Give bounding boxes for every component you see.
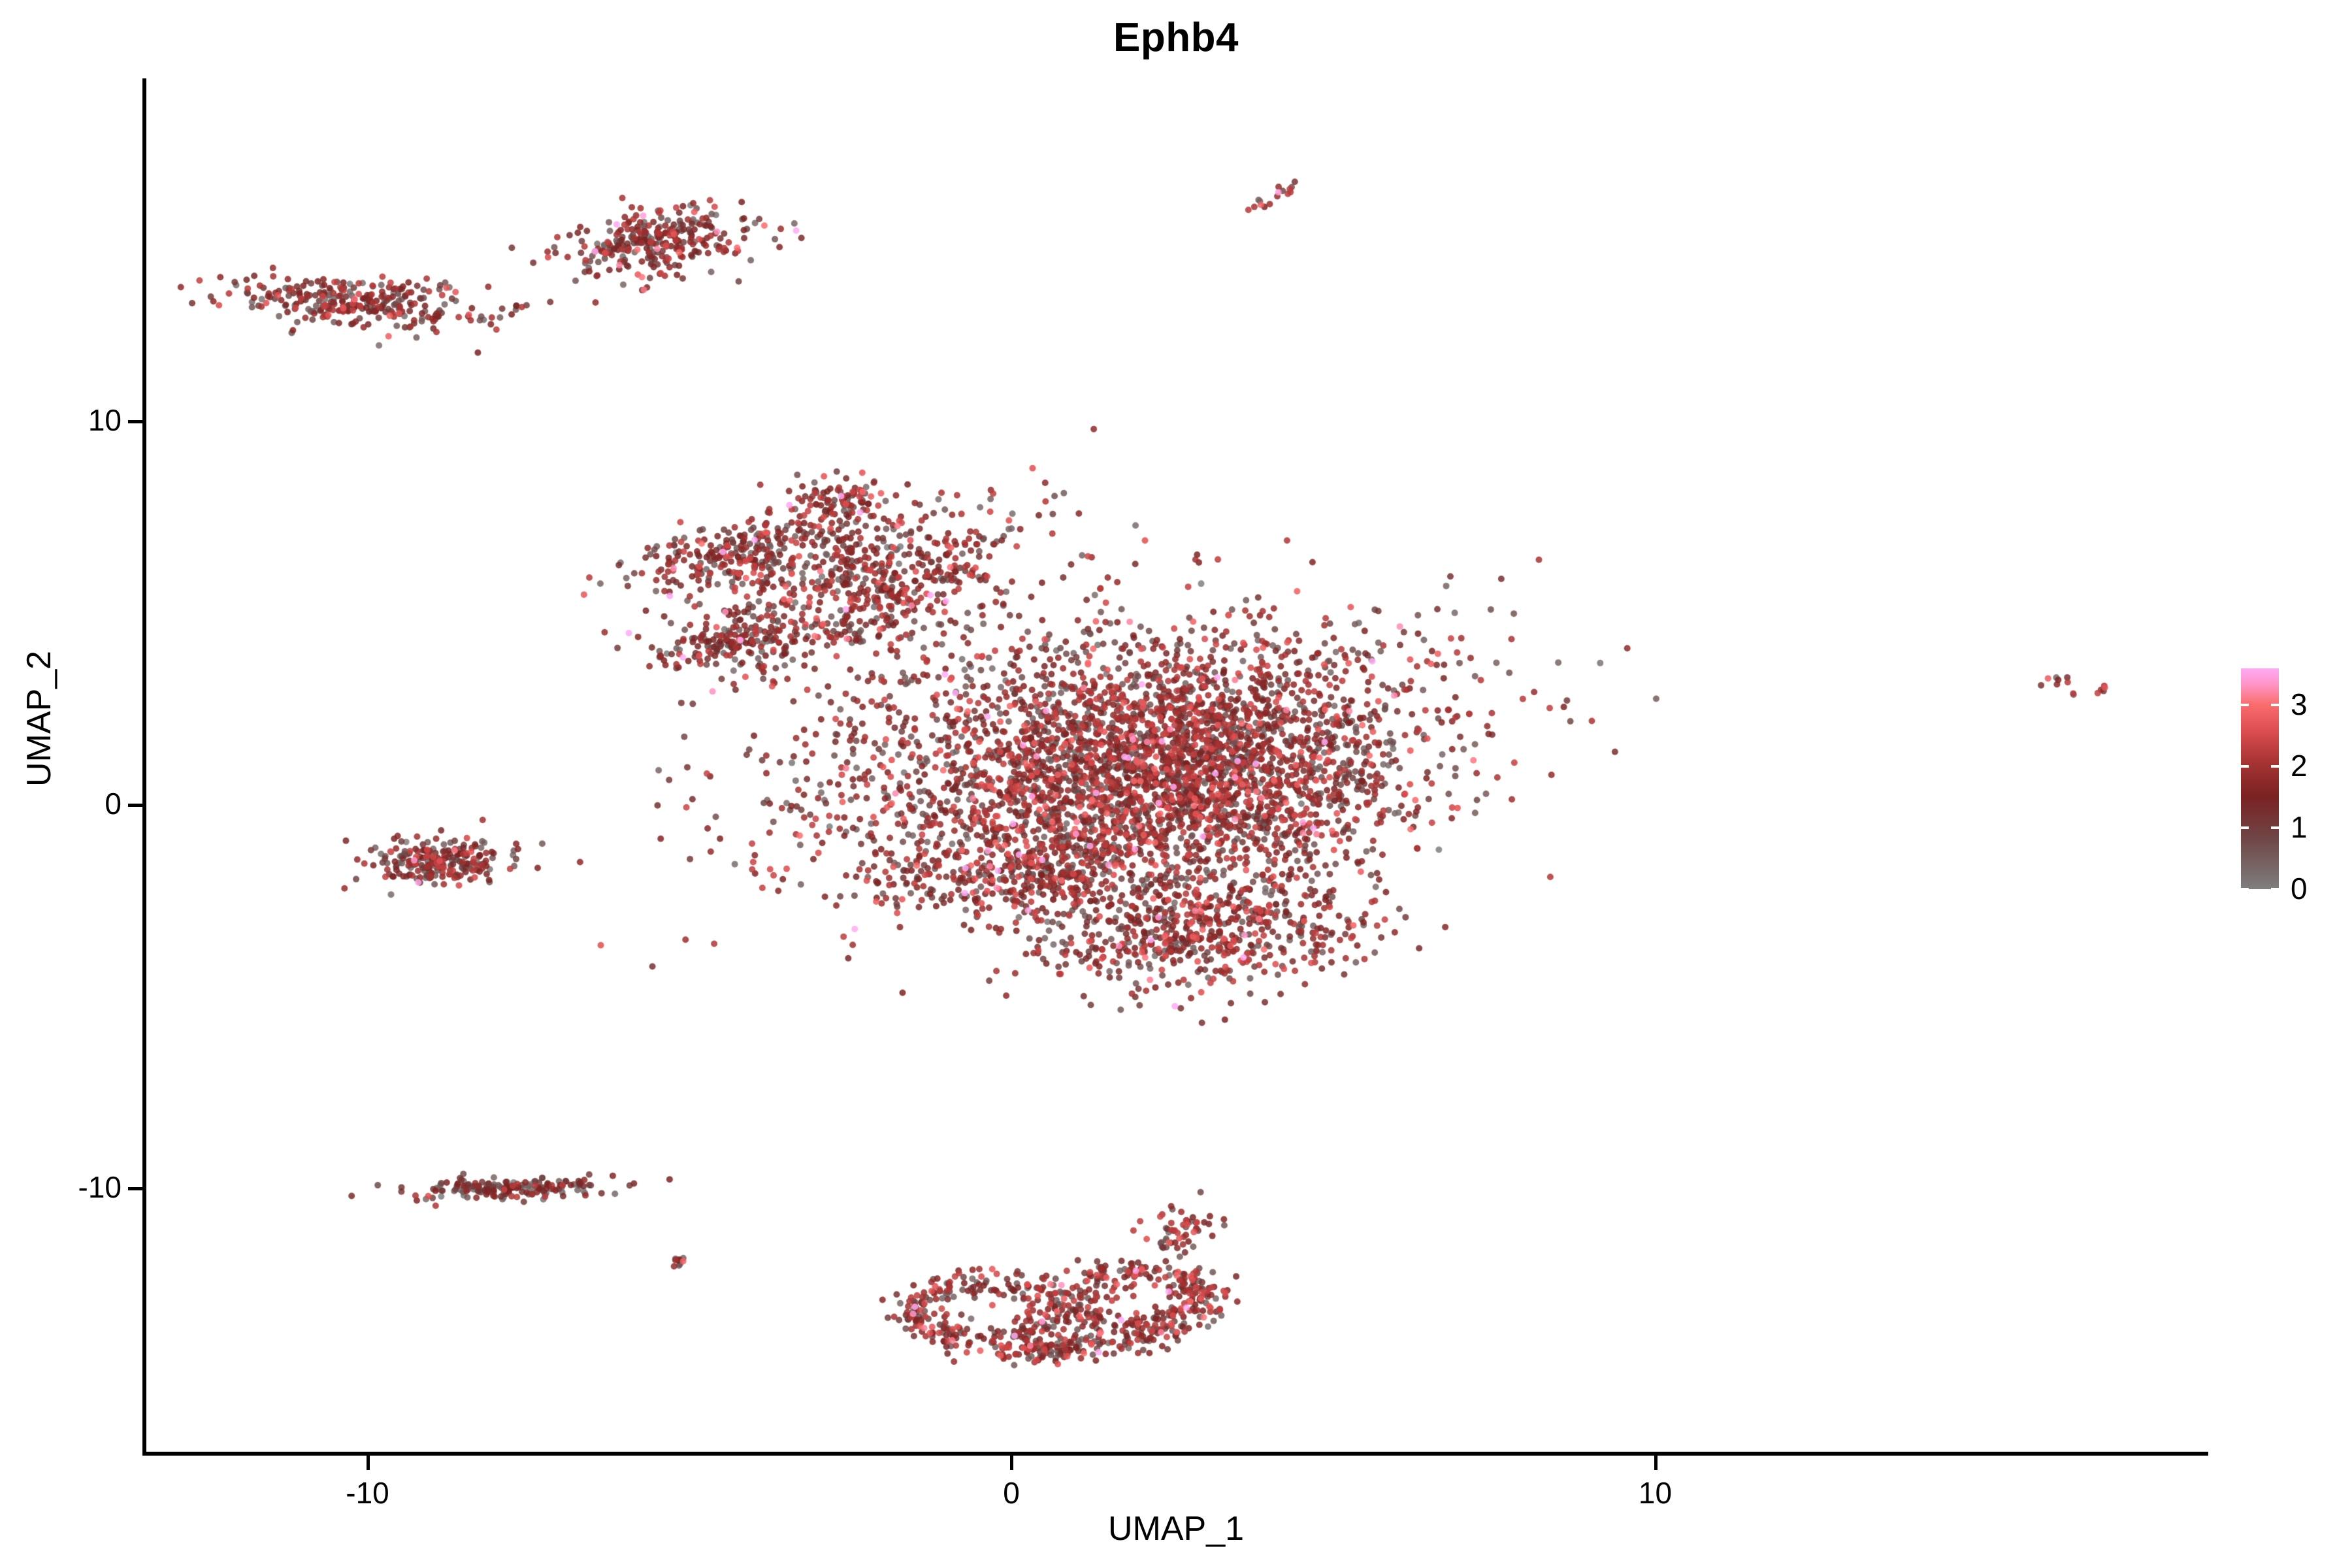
color-legend-tick-label: 3 [2291, 687, 2308, 722]
page-title: Ephb4 [0, 14, 2352, 61]
color-legend-tick-mark [2271, 826, 2279, 829]
color-legend-tick-mark [2241, 765, 2249, 768]
x-tick-mark [1010, 1456, 1013, 1470]
color-legend: 3210 [2241, 668, 2345, 904]
y-tick-mark [128, 804, 142, 807]
x-axis-line [142, 1452, 2208, 1456]
color-legend-tick-mark [2241, 888, 2249, 890]
x-tick-label: 0 [913, 1475, 1109, 1511]
x-tick-mark [1654, 1456, 1658, 1470]
y-tick-mark [128, 420, 142, 423]
x-tick-label: -10 [270, 1475, 466, 1511]
color-legend-tick-mark [2241, 704, 2249, 706]
y-tick-label: 10 [0, 402, 122, 438]
color-legend-bar [2241, 668, 2279, 889]
color-legend-tick-label: 2 [2291, 748, 2308, 783]
y-axis-label-wrap: UMAP_2 [20, 581, 59, 856]
plot-panel [144, 78, 2208, 1454]
feature-plot-root: Ephb4 100-10 -10010 UMAP_1 UMAP_2 3210 [0, 0, 2352, 1568]
y-tick-mark [128, 1187, 142, 1190]
scatter-points-canvas [144, 78, 2208, 1454]
color-legend-tick-label: 1 [2291, 809, 2308, 845]
y-tick-label: -10 [0, 1169, 122, 1205]
color-legend-tick-mark [2271, 704, 2279, 706]
y-axis-label: UMAP_2 [20, 651, 58, 787]
y-tick-label: 0 [0, 786, 122, 821]
color-legend-tick-mark [2271, 888, 2279, 890]
color-legend-tick-mark [2271, 765, 2279, 768]
x-tick-mark [367, 1456, 370, 1470]
x-axis-label: UMAP_1 [144, 1509, 2208, 1548]
color-legend-tick-mark [2241, 826, 2249, 829]
x-tick-label: 10 [1558, 1475, 1754, 1511]
y-axis-line [142, 78, 146, 1454]
color-legend-tick-label: 0 [2291, 871, 2308, 906]
